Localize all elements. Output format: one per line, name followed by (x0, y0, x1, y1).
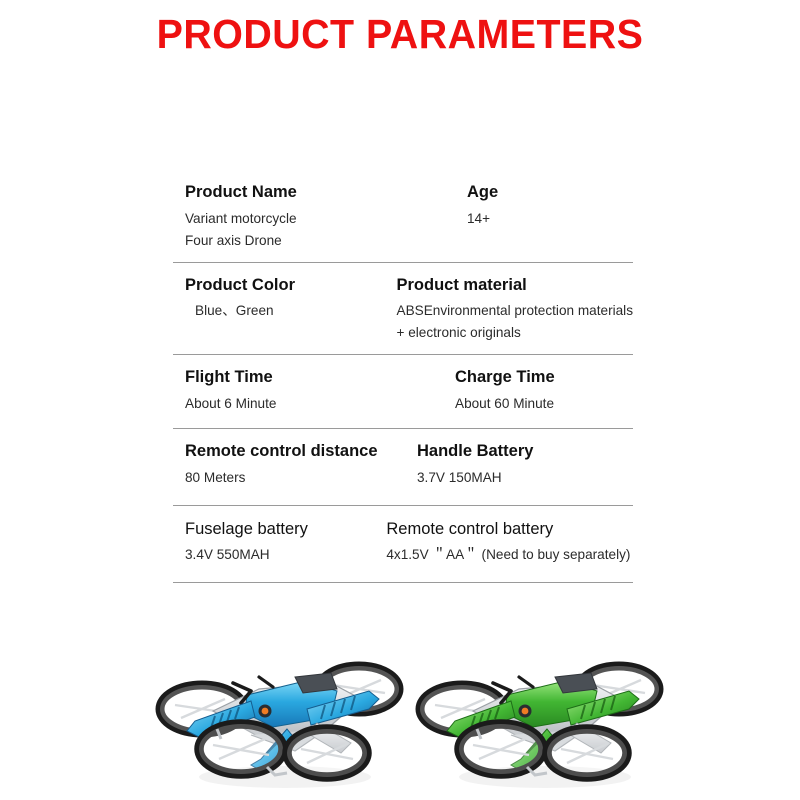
spec-cell-remote-control-battery: Remote control battery 4x1.5V ＂AA＂ (Need… (376, 519, 633, 567)
table-row: Flight Time About 6 Minute Charge Time A… (173, 355, 633, 429)
table-row: Product Name Variant motorcycle Four axi… (173, 180, 633, 263)
spec-value: 3.7V 150MAH (417, 467, 633, 489)
rotor-guard (459, 724, 543, 774)
spec-value-group: 14+ (467, 208, 633, 230)
product-gallery (0, 625, 800, 800)
spec-value: About 6 Minute (185, 393, 410, 415)
spec-value: 14+ (467, 208, 633, 230)
spec-label: Age (467, 182, 633, 203)
spec-value-group: ABSEnvironmental protection materials + … (397, 300, 634, 344)
spec-cell-remote-control-distance: Remote control distance 80 Meters (173, 441, 410, 489)
spec-label: Remote control distance (185, 441, 410, 462)
table-row: Remote control distance 80 Meters Handle… (173, 429, 633, 506)
spec-value: 80 Meters (185, 467, 410, 489)
spec-value-group: About 60 Minute (455, 393, 633, 415)
spec-cell-fuselage-battery: Fuselage battery 3.4V 550MAH (173, 519, 376, 567)
spec-label: Remote control battery (386, 519, 633, 540)
spec-cell-product-material: Product material ABSEnvironmental protec… (353, 275, 634, 345)
spec-cell-handle-battery: Handle Battery 3.7V 150MAH (410, 441, 633, 489)
rotor-guard (547, 729, 627, 777)
product-parameters-table: Product Name Variant motorcycle Four axi… (173, 180, 633, 583)
table-row: Product Color Blue、Green Product materia… (173, 263, 633, 356)
spec-cell-product-color: Product Color Blue、Green (173, 275, 353, 323)
spec-label: Fuselage battery (185, 519, 376, 540)
spec-value-group: About 6 Minute (185, 393, 410, 415)
spec-value-group: 3.7V 150MAH (417, 467, 633, 489)
spec-value-group: 4x1.5V ＂AA＂ (Need to buy separately) (386, 544, 633, 566)
spec-value-group: Blue、Green (185, 300, 353, 322)
spec-value: About 60 Minute (455, 393, 633, 415)
spec-cell-age: Age 14+ (410, 182, 633, 230)
spec-value-group: 80 Meters (185, 467, 410, 489)
spec-cell-charge-time: Charge Time About 60 Minute (410, 367, 633, 415)
spec-label: Product material (397, 275, 634, 296)
spec-value: Four axis Drone (185, 230, 410, 252)
rotor-guard (287, 729, 367, 777)
spec-label: Flight Time (185, 367, 410, 388)
product-image-green-variant-drone (415, 625, 675, 800)
spec-cell-product-name: Product Name Variant motorcycle Four axi… (173, 182, 410, 252)
spec-label: Product Color (185, 275, 353, 296)
spec-value: Blue、Green (185, 300, 353, 322)
page-title: PRODUCT PARAMETERS (16, 12, 784, 57)
rotor-guard (199, 724, 283, 774)
table-row: Fuselage battery 3.4V 550MAH Remote cont… (173, 506, 633, 584)
spec-value: ABSEnvironmental protection materials (397, 300, 634, 322)
spec-label: Product Name (185, 182, 410, 203)
spec-value: 3.4V 550MAH (185, 544, 376, 566)
spec-value: + electronic originals (397, 322, 634, 344)
product-image-blue-variant-drone (155, 625, 415, 800)
spec-value-group: Variant motorcycle Four axis Drone (185, 208, 410, 252)
spec-label: Handle Battery (417, 441, 633, 462)
spec-value-group: 3.4V 550MAH (185, 544, 376, 566)
spec-label: Charge Time (455, 367, 633, 388)
spec-value: Variant motorcycle (185, 208, 410, 230)
spec-cell-flight-time: Flight Time About 6 Minute (173, 367, 410, 415)
spec-value: 4x1.5V ＂AA＂ (Need to buy separately) (386, 544, 633, 566)
